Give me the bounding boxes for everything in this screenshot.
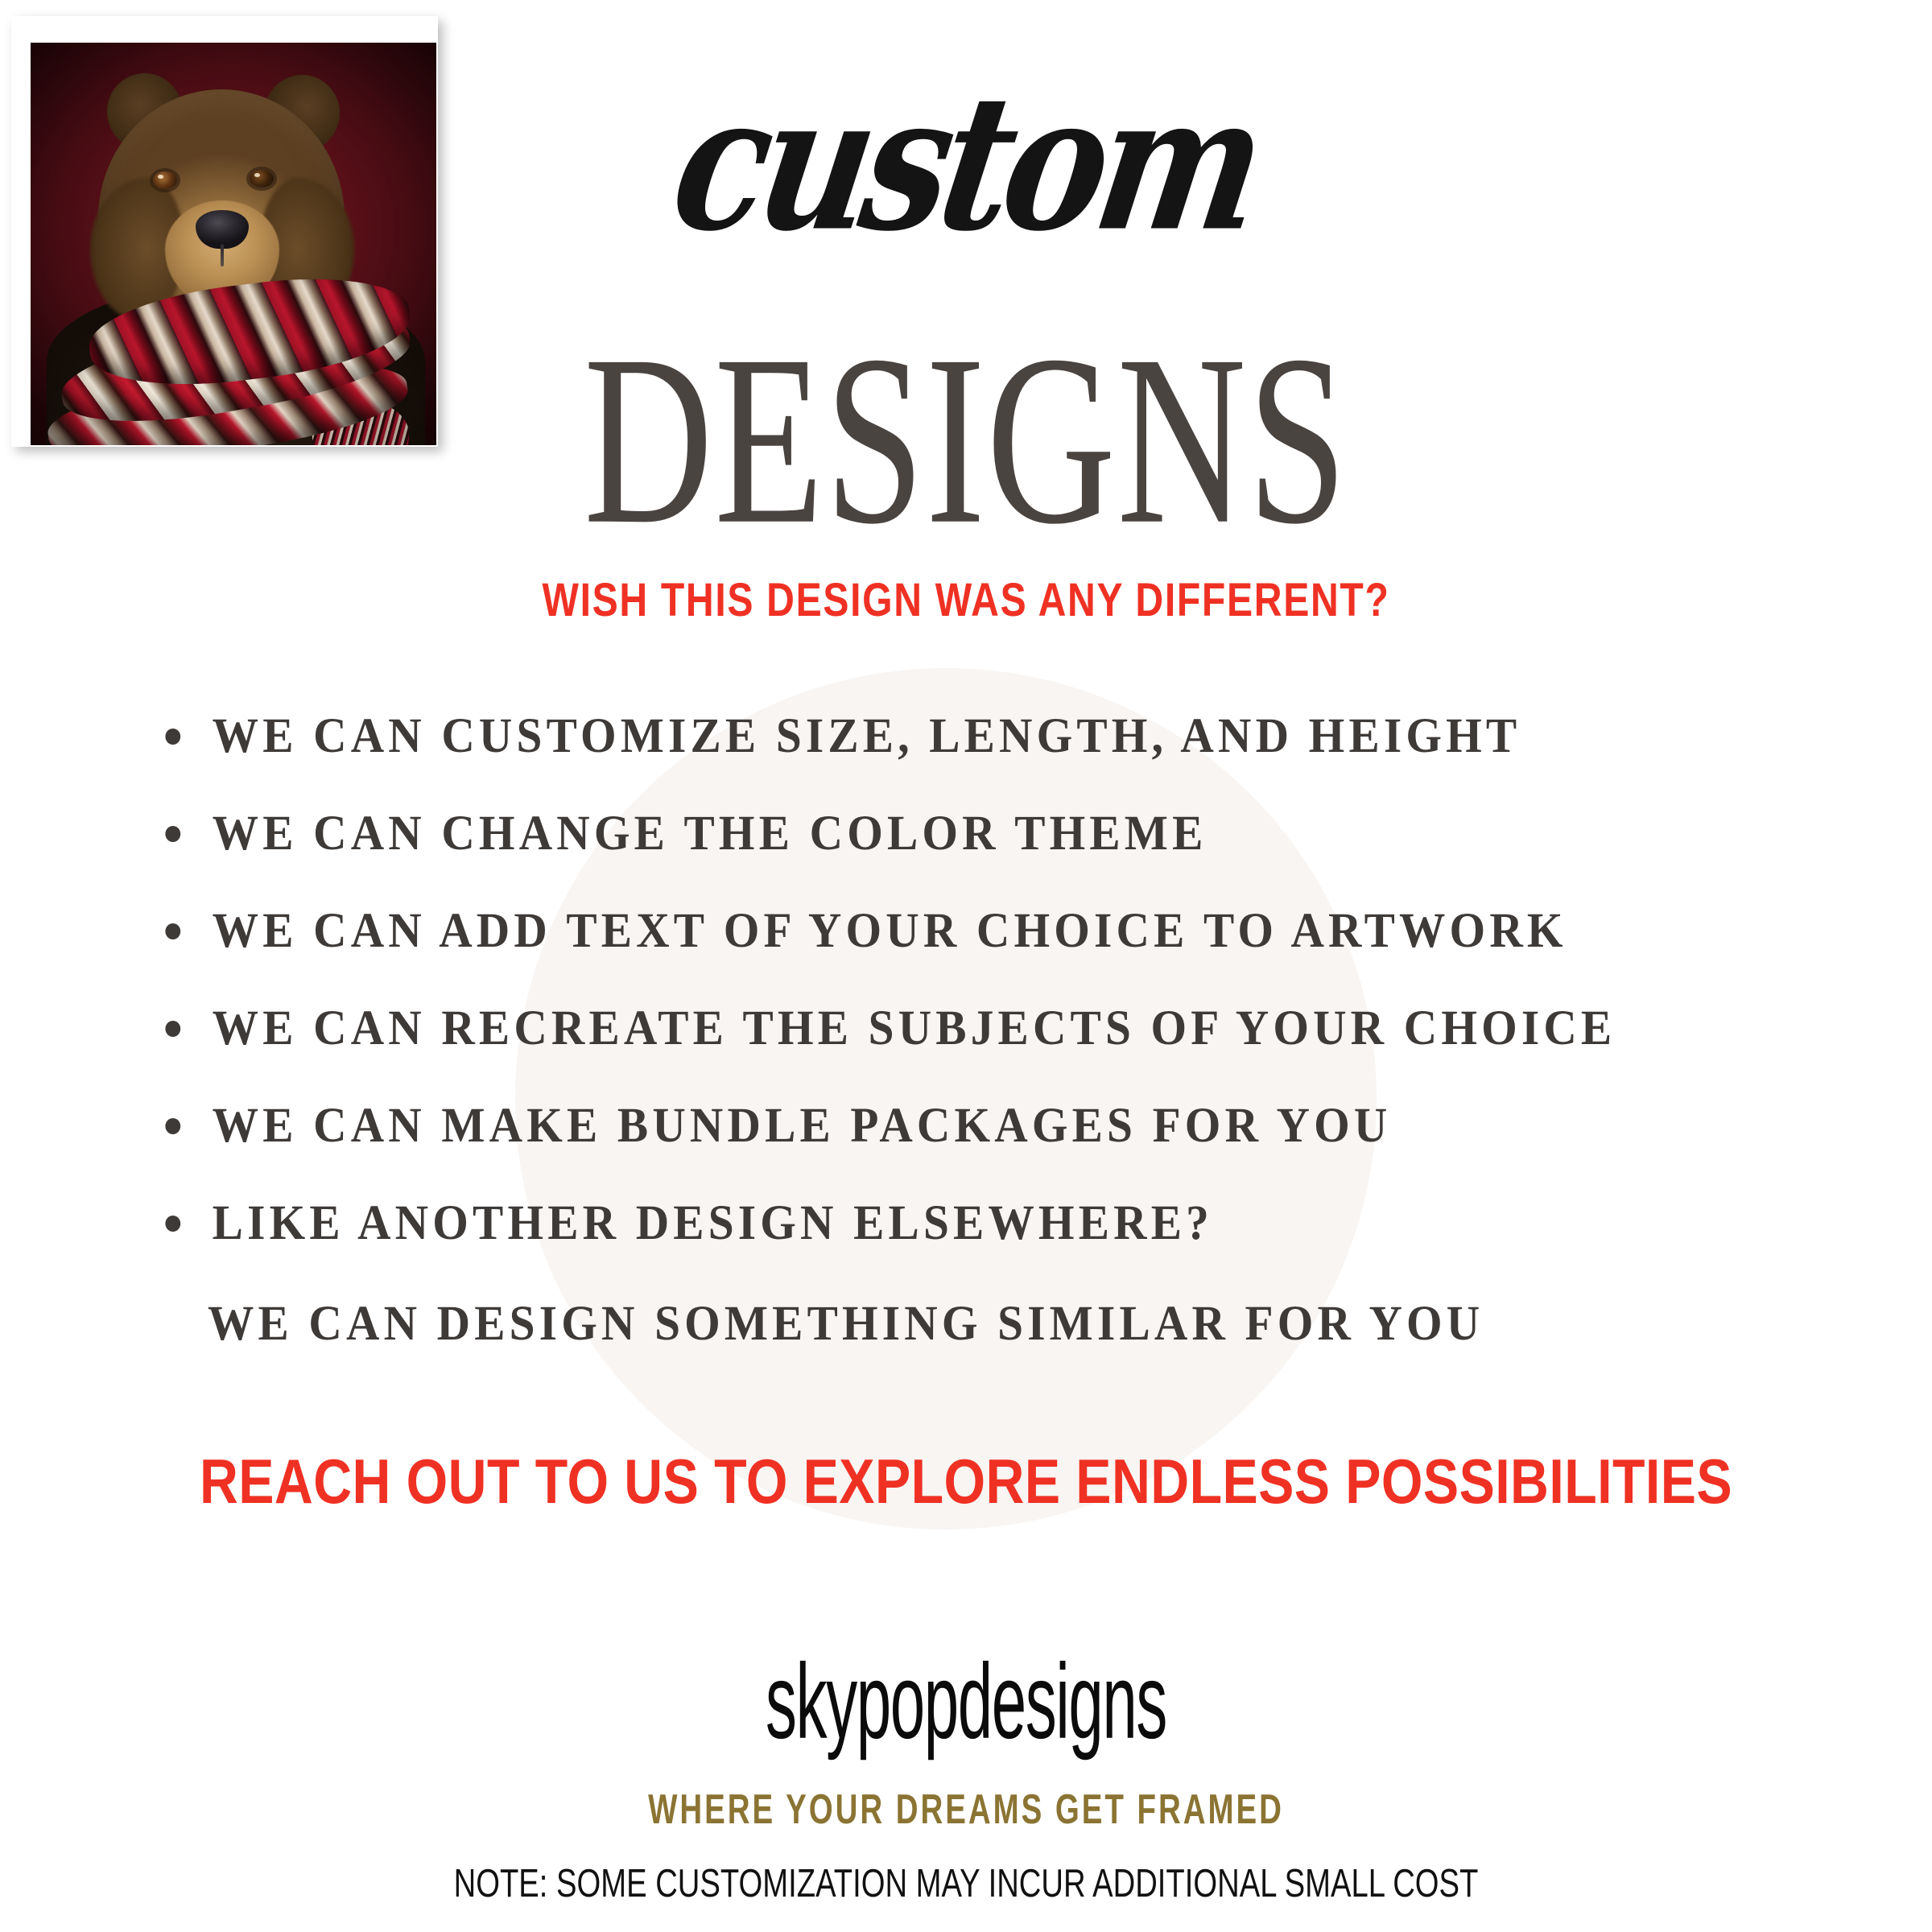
list-item-label: WE CAN MAKE BUNDLE PACKAGES FOR YOU: [213, 1099, 1392, 1153]
bullet-dot-icon: [165, 729, 180, 745]
list-item: WE CAN MAKE BUNDLE PACKAGES FOR YOU: [158, 1098, 1762, 1154]
bullet-dot-icon: [165, 1021, 180, 1037]
headline-subtitle: WISH THIS DESIGN WAS ANY DIFFERENT?: [164, 573, 1768, 627]
bullet-dot-icon: [165, 923, 180, 939]
list-item: WE CAN CUSTOMIZE SIZE, LENGTH, AND HEIGH…: [158, 708, 1762, 765]
brand-logo-text: skypopdesigns: [328, 1641, 1604, 1763]
list-item-label: WE CAN CHANGE THE COLOR THEME: [213, 807, 1207, 861]
list-item: WE CAN ADD TEXT OF YOUR CHOICE TO ARTWOR…: [158, 903, 1762, 960]
list-item-label: LIKE ANOTHER DESIGN ELSEWHERE?: [213, 1196, 1213, 1250]
cta-text: REACH OUT TO US TO EXPLORE ENDLESS POSSI…: [145, 1445, 1787, 1518]
list-item: WE CAN RECREATE THE SUBJECTS OF YOUR CHO…: [158, 1001, 1762, 1057]
list-item: LIKE ANOTHER DESIGN ELSEWHERE?: [158, 1195, 1762, 1252]
benefits-followup-line: WE CAN DESIGN SOMETHING SIMILAR FOR YOU: [208, 1296, 1484, 1352]
page-title: DESIGNS: [213, 318, 1719, 561]
bullet-dot-icon: [165, 826, 180, 842]
headline-script-word: custom: [0, 70, 1932, 257]
list-item-label: WE CAN CUSTOMIZE SIZE, LENGTH, AND HEIGH…: [213, 709, 1521, 763]
list-item-label: WE CAN ADD TEXT OF YOUR CHOICE TO ARTWOR…: [213, 904, 1567, 958]
benefits-list: WE CAN CUSTOMIZE SIZE, LENGTH, AND HEIGH…: [158, 708, 1864, 1293]
list-item-label: WE CAN RECREATE THE SUBJECTS OF YOUR CHO…: [213, 1001, 1616, 1055]
brand-tagline: WHERE YOUR DREAMS GET FRAMED: [251, 1785, 1681, 1834]
bullet-dot-icon: [165, 1118, 180, 1134]
footer-note: NOTE: SOME CUSTOMIZATION MAY INCUR ADDIT…: [213, 1861, 1719, 1906]
bullet-dot-icon: [165, 1216, 180, 1232]
list-item: WE CAN CHANGE THE COLOR THEME: [158, 806, 1762, 862]
